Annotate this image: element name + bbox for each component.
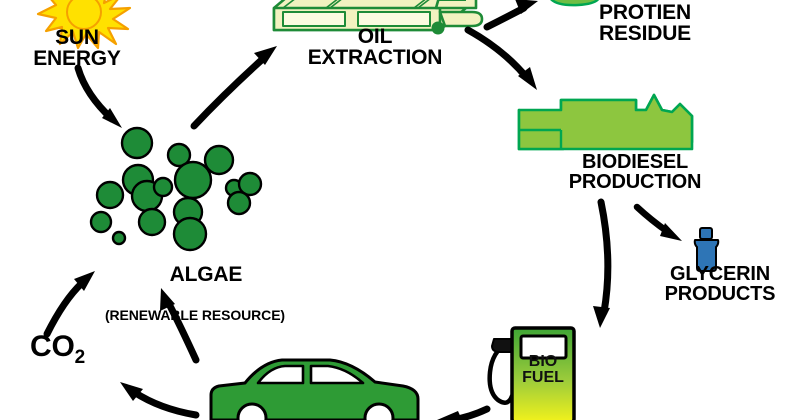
arrow-algae-to-extraction — [194, 46, 277, 126]
arrow-biodiesel-to-glycerin — [637, 207, 682, 241]
algae-cell — [91, 212, 111, 232]
arrow-extraction-to-protein — [487, 0, 538, 27]
arrow-car-to-co2 — [120, 382, 196, 415]
label-algae: ALGAE — [170, 263, 243, 286]
algae-cell — [154, 178, 172, 196]
label-bio-fuel: BIO FUEL — [516, 354, 570, 386]
diagram-canvas: SUN ENERGY OIL EXTRACTION PROTIEN RESIDU… — [0, 0, 800, 420]
algae-cell — [175, 162, 211, 198]
label-co2-text: CO — [30, 330, 75, 363]
algae-cell — [122, 128, 152, 158]
factory-icon — [519, 95, 692, 149]
car-icon — [211, 360, 418, 420]
label-oil-extraction: OIL EXTRACTION — [267, 26, 483, 69]
algae-cell — [139, 209, 165, 235]
algae-cell — [97, 182, 123, 208]
label-glycerin-products: GLYCERIN PRODUCTS — [630, 264, 800, 305]
label-co2-subscript: 2 — [75, 347, 85, 368]
arrow-biodiesel-to-pump — [593, 202, 610, 328]
label-sun-energy: SUN ENERGY — [2, 27, 152, 70]
arrow-sun-to-algae — [78, 68, 122, 128]
label-protien-residue: PROTIEN RESIDUE — [540, 2, 750, 45]
arrow-pump-to-car — [437, 409, 487, 420]
label-algae-sublabel: (RENEWABLE RESOURCE) — [75, 308, 315, 322]
algae-cluster-icon — [91, 128, 261, 250]
label-biodiesel-production: BIODIESEL PRODUCTION — [520, 152, 750, 193]
label-co2: CO2 — [30, 332, 160, 367]
algae-cell — [228, 192, 250, 214]
